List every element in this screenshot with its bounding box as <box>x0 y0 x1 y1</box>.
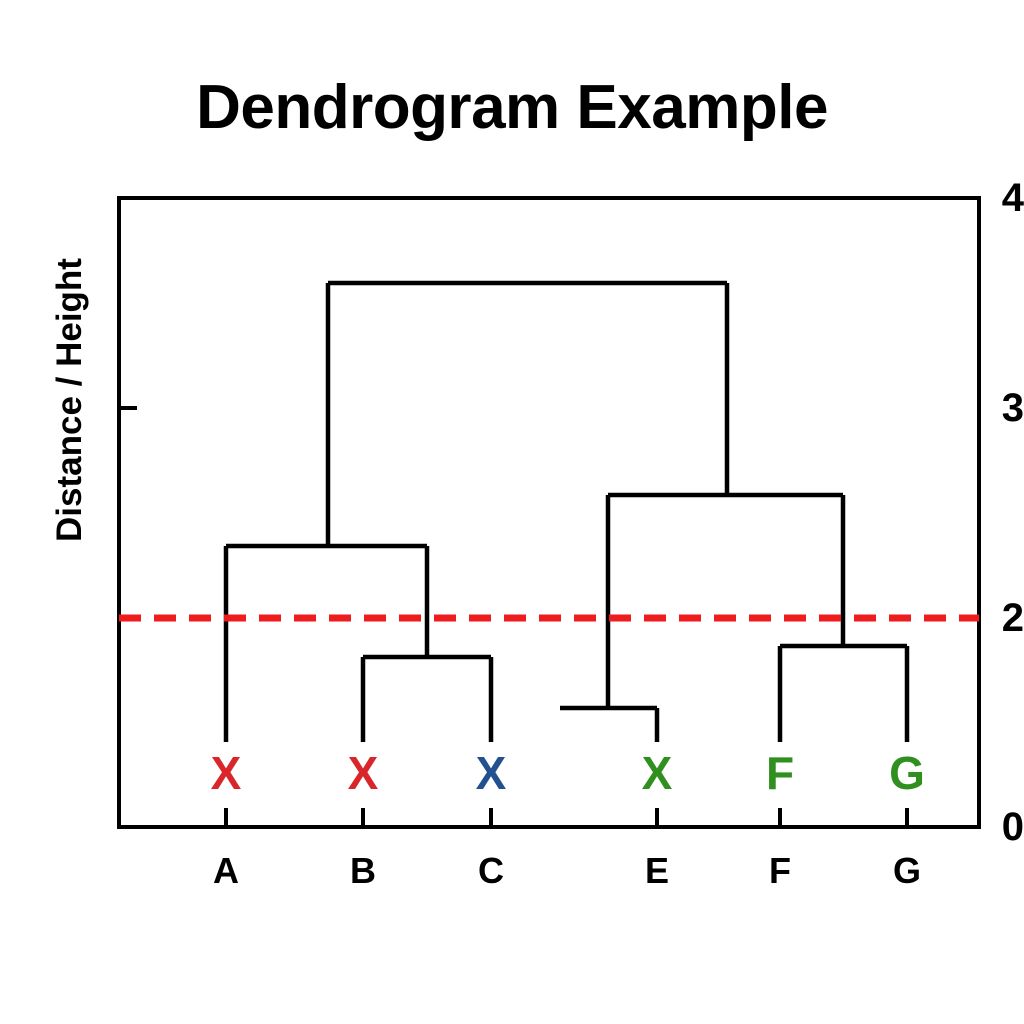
merge-link-bc <box>363 657 491 742</box>
merge-link-a-bc <box>226 546 427 742</box>
merge-link-root <box>328 283 727 546</box>
x-axis-ticks <box>226 808 907 827</box>
merge-link-fg <box>780 646 907 742</box>
merge-link-trunc-e <box>560 708 657 742</box>
merge-link-e-fg <box>608 495 843 708</box>
plot-frame <box>119 198 979 827</box>
chart-canvas: Dendrogram Example Distance / Height 0 2… <box>0 0 1024 1024</box>
dendrogram-svg <box>0 0 1024 1024</box>
